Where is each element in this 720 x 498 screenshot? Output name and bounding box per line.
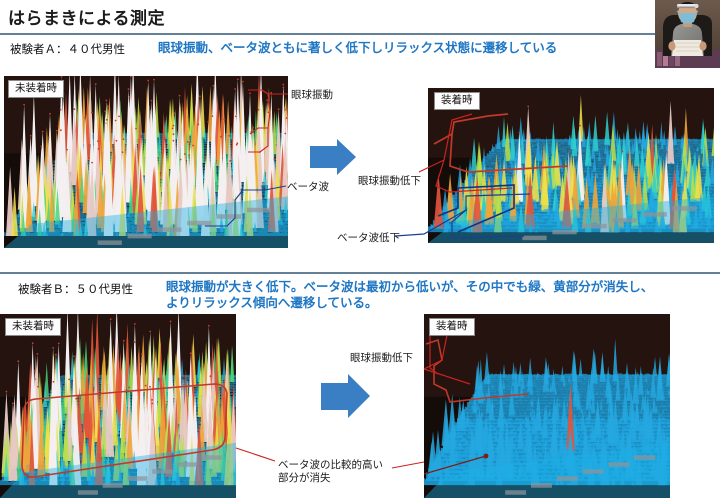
spectrogram-a-before[interactable]: [4, 76, 288, 248]
callout-a-beta-wave-decrease: ベータ波低下: [337, 232, 400, 245]
transition-arrow-b: [321, 374, 370, 418]
leader-b-beta-left: [236, 448, 275, 461]
subject-a-header: 被験者Ａ：４０代男性 眼球振動、ベータ波ともに著しく低下しリラックス状態に遷移し…: [0, 38, 720, 60]
spectrogram-a-after-tag: 装着時: [434, 92, 480, 110]
spectrogram-a-after-canvas: [428, 88, 714, 243]
callout-b-eye-vibration-decrease: 眼球振動低下: [350, 352, 413, 365]
spectrogram-b-after-canvas: [424, 314, 670, 498]
spectrogram-b-before-canvas: [0, 314, 236, 498]
spectrogram-a-before-canvas: [4, 76, 288, 248]
callout-a-beta-wave: ベータ波: [287, 181, 329, 194]
spectrogram-b-before-tag: 未装着時: [5, 318, 61, 336]
leader-b-beta-right: [392, 462, 424, 468]
spectrogram-a-before-tag: 未装着時: [8, 80, 64, 98]
page-title: はらまきによる測定: [8, 4, 165, 29]
spectrogram-a-after[interactable]: [428, 88, 714, 243]
callout-a-eye-vibration-decrease: 眼球振動低下: [358, 175, 421, 188]
divider-middle: [0, 272, 720, 274]
subject-b-header: 被験者Ｂ：５０代男性 眼球振動が大きく低下。ベータ波は最初から低いが、その中でも…: [0, 277, 720, 313]
subject-a-label: 被験者Ａ：４０代男性: [10, 41, 125, 57]
transition-arrow-a: [310, 139, 356, 175]
spectrogram-b-after[interactable]: [424, 314, 670, 498]
callout-b-beta-high-vanished-line-2: 部分が消失: [278, 472, 331, 485]
callout-a-eye-vibration: 眼球振動: [291, 89, 333, 102]
spectrogram-b-after-tag: 装着時: [429, 318, 475, 336]
slide-root: はらまきによる測定: [0, 0, 720, 498]
divider-top: [0, 33, 720, 35]
spectrogram-b-before[interactable]: [0, 314, 236, 498]
subject-b-label: 被験者Ｂ：５０代男性: [18, 281, 133, 297]
subject-b-note-line-2: よりリラックス傾向へ遷移している。: [166, 295, 378, 311]
callout-b-beta-high-vanished-line-1: ベータ波の比較的高い: [278, 459, 383, 472]
subject-a-note-line-1: 眼球振動、ベータ波ともに著しく低下しリラックス状態に遷移している: [158, 40, 557, 56]
subject-b-note-line-1: 眼球振動が大きく低下。ベータ波は最初から低いが、その中でも緑、黄部分が消失し、: [166, 279, 653, 295]
